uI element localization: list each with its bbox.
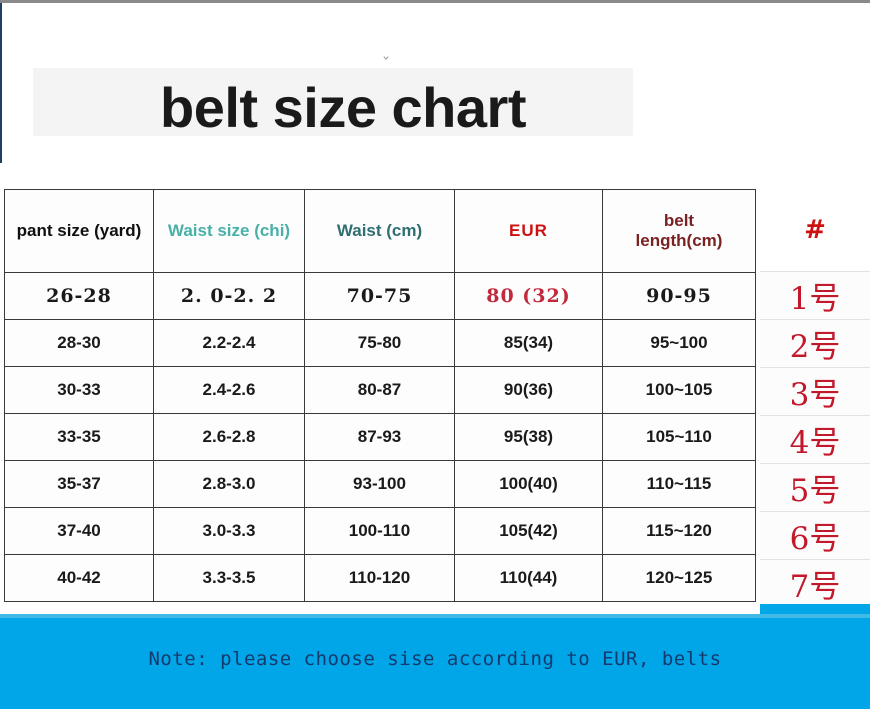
column-header-pant-size: pant size (yard) [5,190,154,273]
table-row: 28-30 2.2-2.4 75-80 85(34) 95~100 [5,320,756,367]
table-body: 26-28 2. 0-2. 2 70-75 80 (32) 90-95 28-3… [5,273,756,602]
column-header-waist-cm: Waist (cm) [305,190,455,273]
table-row: 37-40 3.0-3.3 100-110 105(42) 115~120 [5,508,756,555]
table-header-row: pant size (yard) Waist size (chi) Waist … [5,190,756,273]
cell-belt-length: 100~105 [603,367,756,414]
cell-eur: 95(38) [455,414,603,461]
left-edge-accent [0,3,2,163]
cell-waist-cm: 110-120 [305,555,455,602]
cell-pant-size: 37-40 [5,508,154,555]
belt-length-line2: length(cm) [636,231,723,250]
cell-belt-length: 95~100 [603,320,756,367]
cell-pant-size: 30-33 [5,367,154,414]
page-title: belt size chart [33,72,653,142]
cell-size-number: 5号 [760,463,870,511]
cell-waist-cm: 87-93 [305,414,455,461]
cell-waist-chi: 2.4-2.6 [154,367,305,414]
cell-eur: 100(40) [455,461,603,508]
cell-pant-size: 33-35 [5,414,154,461]
footer-bar-highlight [0,614,870,618]
cell-size-number: 2号 [760,319,870,367]
table-row: 40-42 3.3-3.5 110-120 110(44) 120~125 [5,555,756,602]
cell-waist-cm: 100-110 [305,508,455,555]
cell-waist-cm: 80-87 [305,367,455,414]
cell-waist-chi: 3.3-3.5 [154,555,305,602]
cell-waist-chi: 2.6-2.8 [154,414,305,461]
top-strip [0,0,870,3]
cell-pant-size: 28-30 [5,320,154,367]
size-number-column: # 1号 2号 3号 4号 5号 6号 7号 [760,189,870,607]
cell-belt-length: 105~110 [603,414,756,461]
table-row: 35-37 2.8-3.0 93-100 100(40) 110~115 [5,461,756,508]
cell-belt-length: 90-95 [603,273,756,320]
cell-pant-size: 35-37 [5,461,154,508]
cell-size-number: 6号 [760,511,870,559]
cell-size-number: 1号 [760,271,870,319]
cell-belt-length: 120~125 [603,555,756,602]
cell-waist-chi: 2.8-3.0 [154,461,305,508]
cell-eur: 80 (32) [455,273,603,320]
table-header: pant size (yard) Waist size (chi) Waist … [5,190,756,273]
cell-eur: 90(36) [455,367,603,414]
cell-belt-length: 115~120 [603,508,756,555]
table-row: 33-35 2.6-2.8 87-93 95(38) 105~110 [5,414,756,461]
cell-pant-size: 40-42 [5,555,154,602]
cell-belt-length: 110~115 [603,461,756,508]
table-row: 26-28 2. 0-2. 2 70-75 80 (32) 90-95 [5,273,756,320]
belt-length-line1: belt [664,211,694,230]
footer-note: Note: please choose sise according to EU… [0,648,870,670]
cell-size-number: 3号 [760,367,870,415]
cell-eur: 85(34) [455,320,603,367]
table-row: 30-33 2.4-2.6 80-87 90(36) 100~105 [5,367,756,414]
size-chart-table: pant size (yard) Waist size (chi) Waist … [4,189,756,602]
cell-waist-cm: 75-80 [305,320,455,367]
cell-waist-chi: 2. 0-2. 2 [154,273,305,320]
column-header-hash: # [760,189,870,271]
cell-size-number: 4号 [760,415,870,463]
column-header-belt-length: belt length(cm) [603,190,756,273]
cell-waist-cm: 70-75 [305,273,455,320]
column-header-eur: EUR [455,190,603,273]
cell-eur: 105(42) [455,508,603,555]
cell-eur: 110(44) [455,555,603,602]
cell-pant-size: 26-28 [5,273,154,320]
cell-waist-chi: 2.2-2.4 [154,320,305,367]
cell-waist-cm: 93-100 [305,461,455,508]
cell-size-number: 7号 [760,559,870,607]
column-header-waist-chi: Waist size (chi) [154,190,305,273]
cell-waist-chi: 3.0-3.3 [154,508,305,555]
